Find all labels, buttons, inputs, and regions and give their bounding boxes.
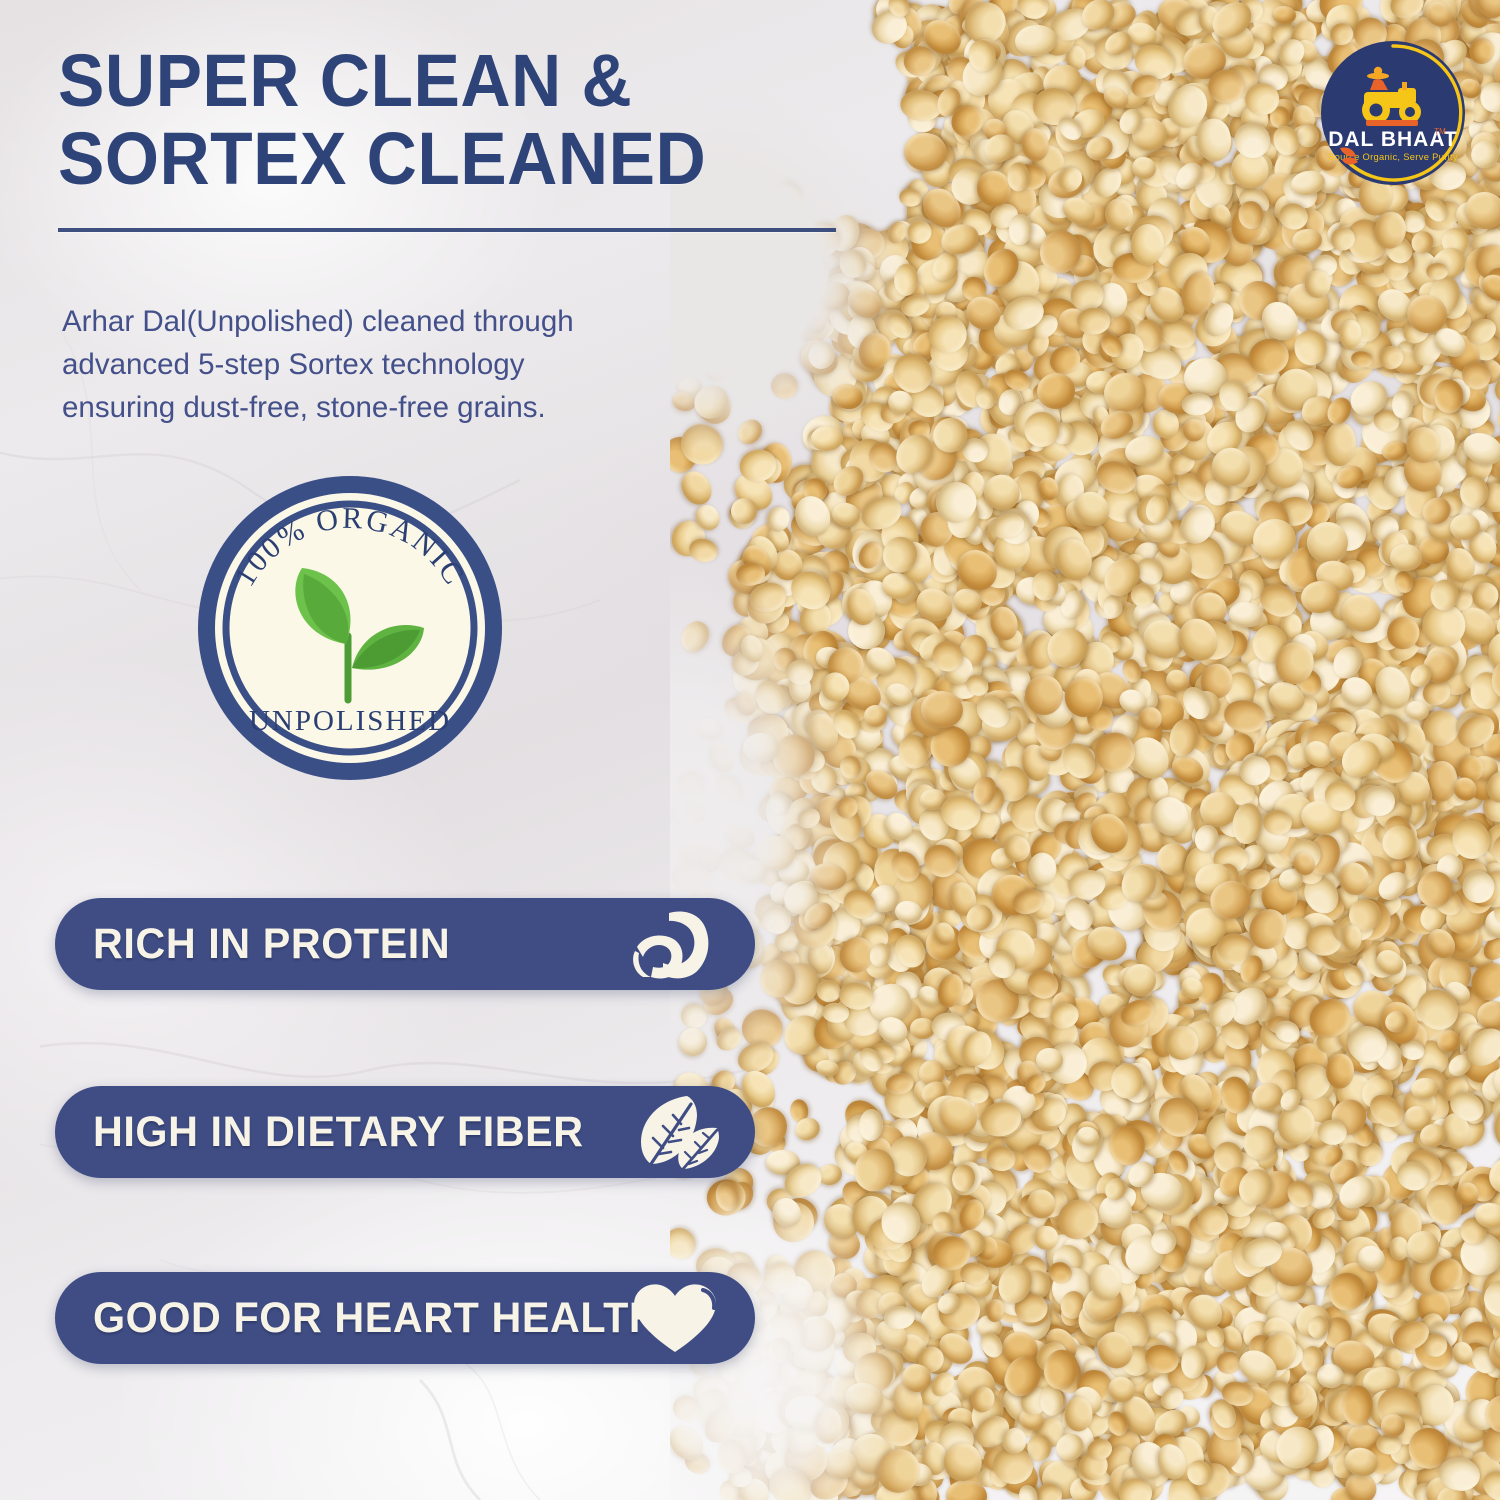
product-banner: SUPER CLEAN & SORTEX CLEANED Arhar Dal(U… — [0, 0, 1500, 1500]
feature-label-heart: GOOD FOR HEART HEALTH — [93, 1294, 659, 1343]
feature-label-protein: RICH IN PROTEIN — [93, 920, 450, 969]
dal-photograph — [670, 0, 1500, 1500]
marble-vein-lower — [40, 960, 760, 1500]
leaves-icon — [627, 1094, 723, 1170]
feature-label-fiber: HIGH IN DIETARY FIBER — [93, 1108, 584, 1157]
headline-line-1: SUPER CLEAN & — [58, 42, 829, 120]
feature-pill-protein[interactable]: RICH IN PROTEIN — [55, 898, 755, 990]
feature-pill-heart[interactable]: GOOD FOR HEART HEALTH — [55, 1272, 755, 1364]
title-divider — [58, 228, 836, 232]
page-title: SUPER CLEAN & SORTEX CLEANED — [58, 42, 829, 198]
badge-bottom-text: UNPOLISHED — [249, 705, 451, 737]
heart-icon — [627, 1280, 723, 1356]
description-line-3: ensuring dust-free, stone-free grains. — [62, 386, 782, 429]
headline-line-2: SORTEX CLEANED — [58, 120, 829, 198]
description-line-2: advanced 5-step Sortex technology — [62, 343, 782, 386]
description-text: Arhar Dal(Unpolished) cleaned through ad… — [62, 300, 782, 429]
organic-badge: 100% ORGANIC UNPOLISHED — [190, 468, 510, 788]
feature-pill-fiber[interactable]: HIGH IN DIETARY FIBER — [55, 1086, 755, 1178]
logo-trademark: TM — [1434, 127, 1446, 136]
description-line-1: Arhar Dal(Unpolished) cleaned through — [62, 300, 782, 343]
flexed-biceps-icon — [627, 906, 723, 982]
brand-logo: DAL BHAAT Source Organic, Serve Purity T… — [1318, 38, 1468, 188]
